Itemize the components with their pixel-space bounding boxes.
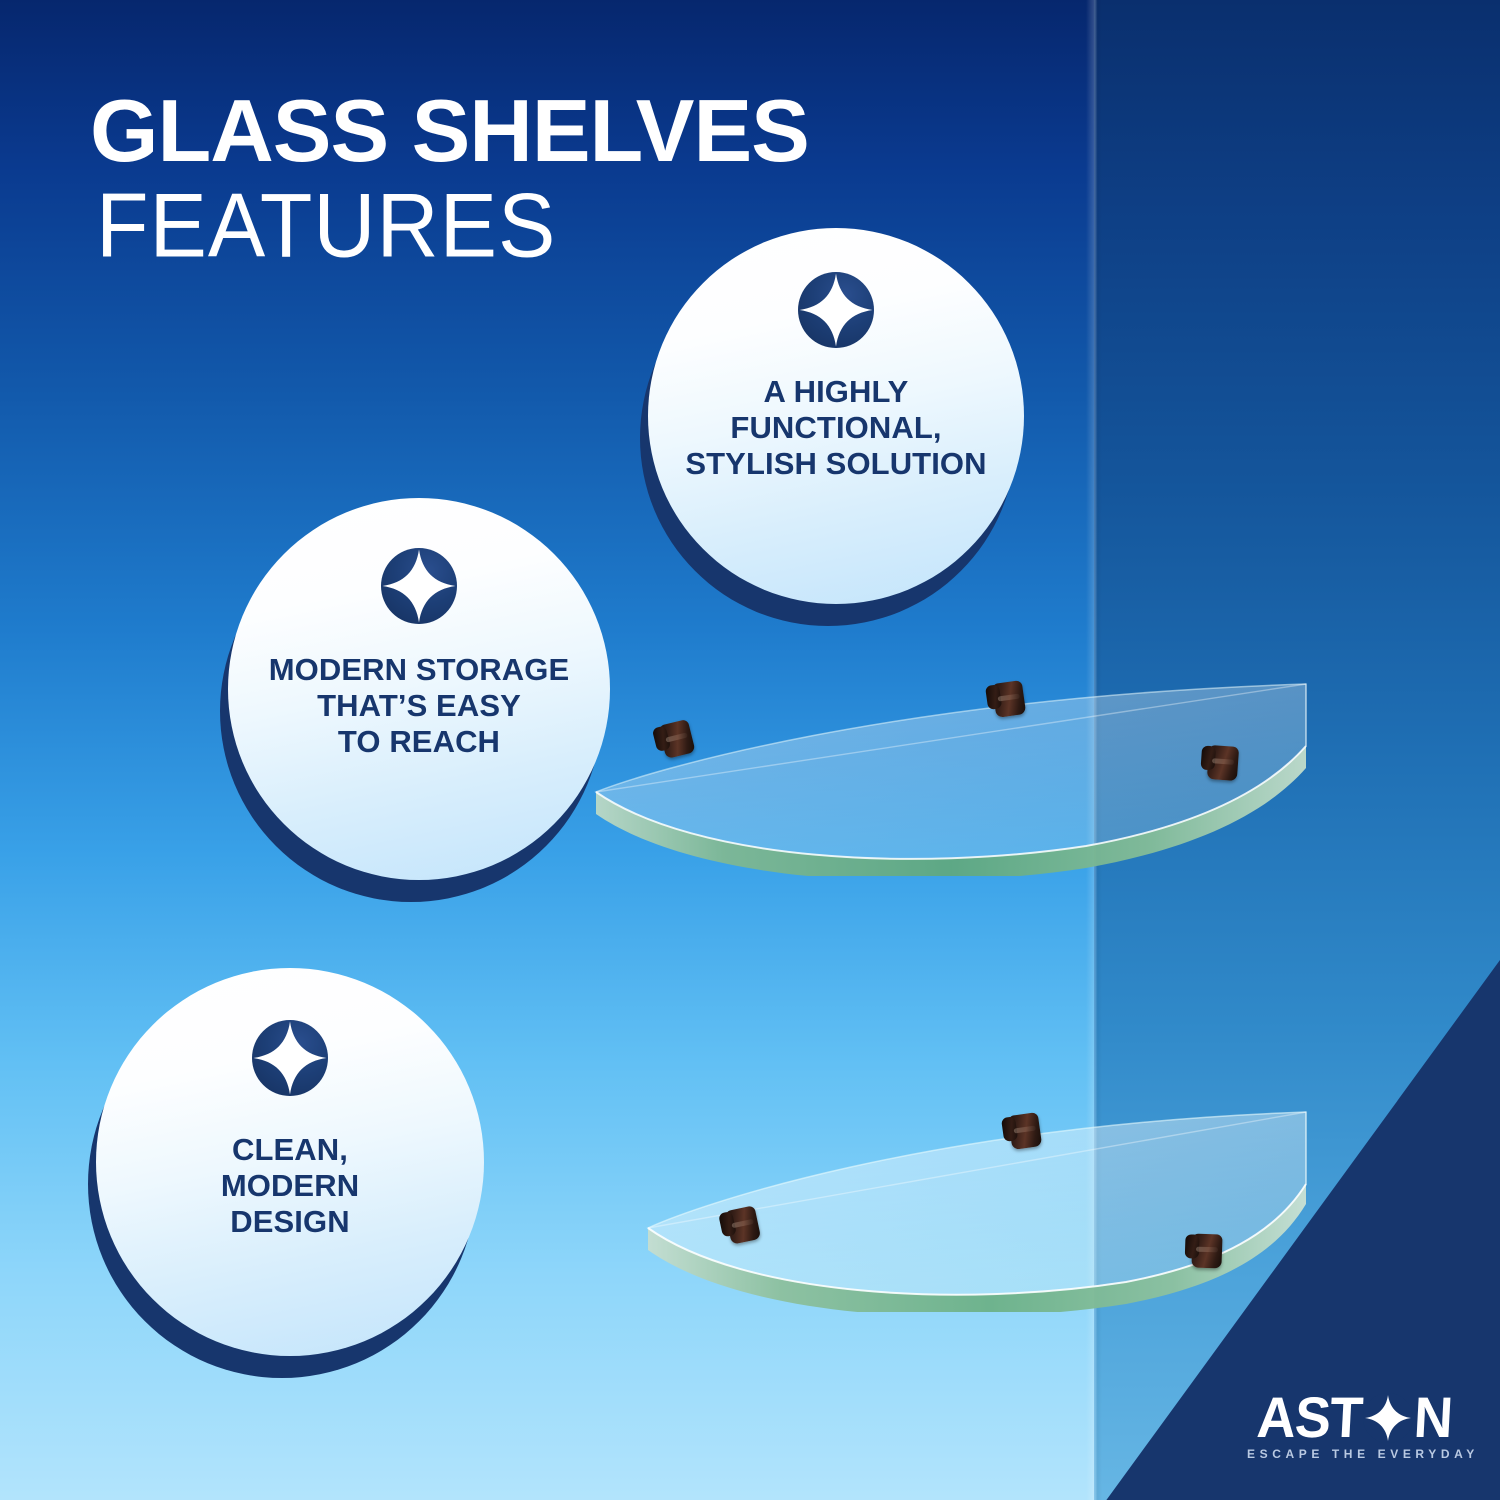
feature-bubble-clean-modern-design: CLEAN, MODERN DESIGN <box>96 968 484 1356</box>
shelf-mounting-clip <box>992 680 1026 718</box>
feature-caption: CLEAN, MODERN DESIGN <box>140 1132 440 1240</box>
upper-corner-shelf <box>586 676 1312 876</box>
bubble-face: A HIGHLY FUNCTIONAL, STYLISH SOLUTION <box>648 228 1024 604</box>
aston-logo: AST N ESCAPE THE EVERYDAY <box>1247 1392 1461 1461</box>
shelf-mounting-clip <box>1008 1112 1042 1150</box>
four-point-star-icon <box>1363 1393 1413 1443</box>
feature-bubble-highly-functional: A HIGHLY FUNCTIONAL, STYLISH SOLUTION <box>648 228 1024 604</box>
glass-panel <box>586 676 1312 876</box>
shelf-mounting-clip <box>1191 1233 1222 1268</box>
feature-caption: MODERN STORAGE THAT’S EASY TO REACH <box>249 652 589 760</box>
feature-caption: A HIGHLY FUNCTIONAL, STYLISH SOLUTION <box>671 374 1001 482</box>
logo-wordmark: AST N <box>1247 1392 1461 1444</box>
title-line-primary: GLASS SHELVES <box>90 88 1050 174</box>
bubble-face: MODERN STORAGE THAT’S EASY TO REACH <box>228 498 610 880</box>
four-point-star-icon <box>252 1020 328 1096</box>
feature-bubble-modern-storage: MODERN STORAGE THAT’S EASY TO REACH <box>228 498 610 880</box>
logo-word-end: N <box>1412 1389 1453 1446</box>
lower-corner-shelf <box>640 1106 1312 1312</box>
four-point-star-icon <box>381 548 457 624</box>
marketing-graphic: GLASS SHELVES FEATURES A HIGHLY FUNCTION… <box>0 0 1500 1500</box>
bubble-face: CLEAN, MODERN DESIGN <box>96 968 484 1356</box>
logo-word-start: AST <box>1255 1389 1363 1446</box>
shelf-mounting-clip <box>1207 745 1239 781</box>
four-point-star-icon <box>798 272 874 348</box>
